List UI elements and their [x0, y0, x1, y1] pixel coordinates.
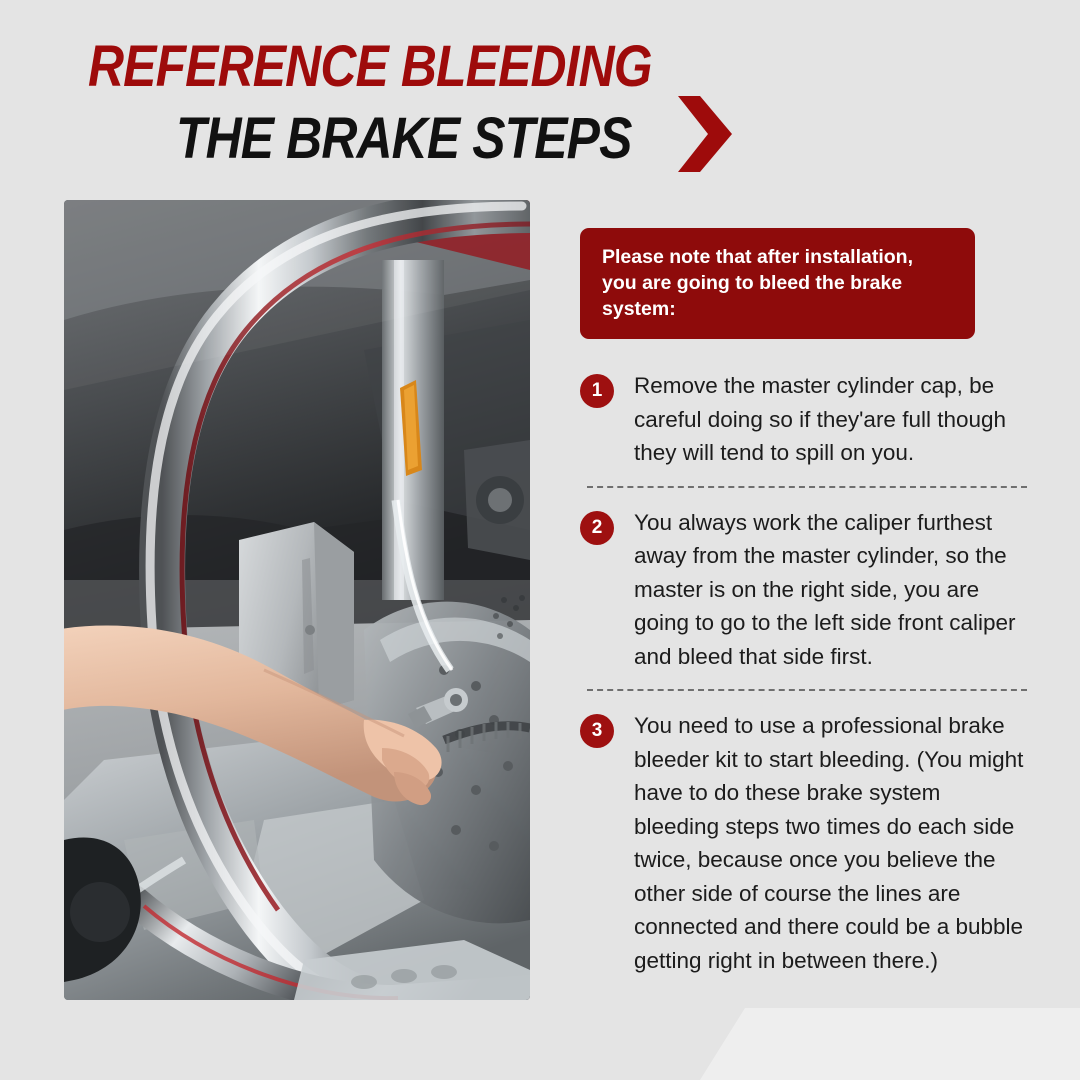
list-item: 2 You always work the caliper furthest a… — [580, 506, 1030, 674]
step-number-badge: 1 — [580, 374, 614, 408]
step-text: Remove the master cylinder cap, be caref… — [634, 369, 1030, 470]
list-item: 1 Remove the master cylinder cap, be car… — [580, 369, 1030, 470]
step-number-badge: 3 — [580, 714, 614, 748]
page-title-line-2: THE BRAKE STEPS — [176, 108, 631, 170]
step-divider — [587, 486, 1027, 488]
step-divider — [587, 689, 1027, 691]
step-number-badge: 2 — [580, 511, 614, 545]
list-item: 3 You need to use a professional brake b… — [580, 709, 1030, 977]
step-text: You always work the caliper furthest awa… — [634, 506, 1030, 674]
photo-artwork — [64, 200, 530, 1000]
note-banner: Please note that after installation, you… — [580, 228, 975, 339]
corner-accent-wedge — [0, 1008, 1080, 1080]
chevron-right-icon — [678, 96, 732, 172]
motorcycle-brake-photo — [64, 200, 530, 1000]
page-title-line-1: REFERENCE BLEEDING — [88, 36, 652, 98]
header: REFERENCE BLEEDING THE BRAKE STEPS — [0, 0, 1080, 195]
step-text: You need to use a professional brake ble… — [634, 709, 1030, 977]
steps-list: 1 Remove the master cylinder cap, be car… — [580, 369, 1030, 977]
instructions-panel: Please note that after installation, you… — [580, 228, 1030, 977]
